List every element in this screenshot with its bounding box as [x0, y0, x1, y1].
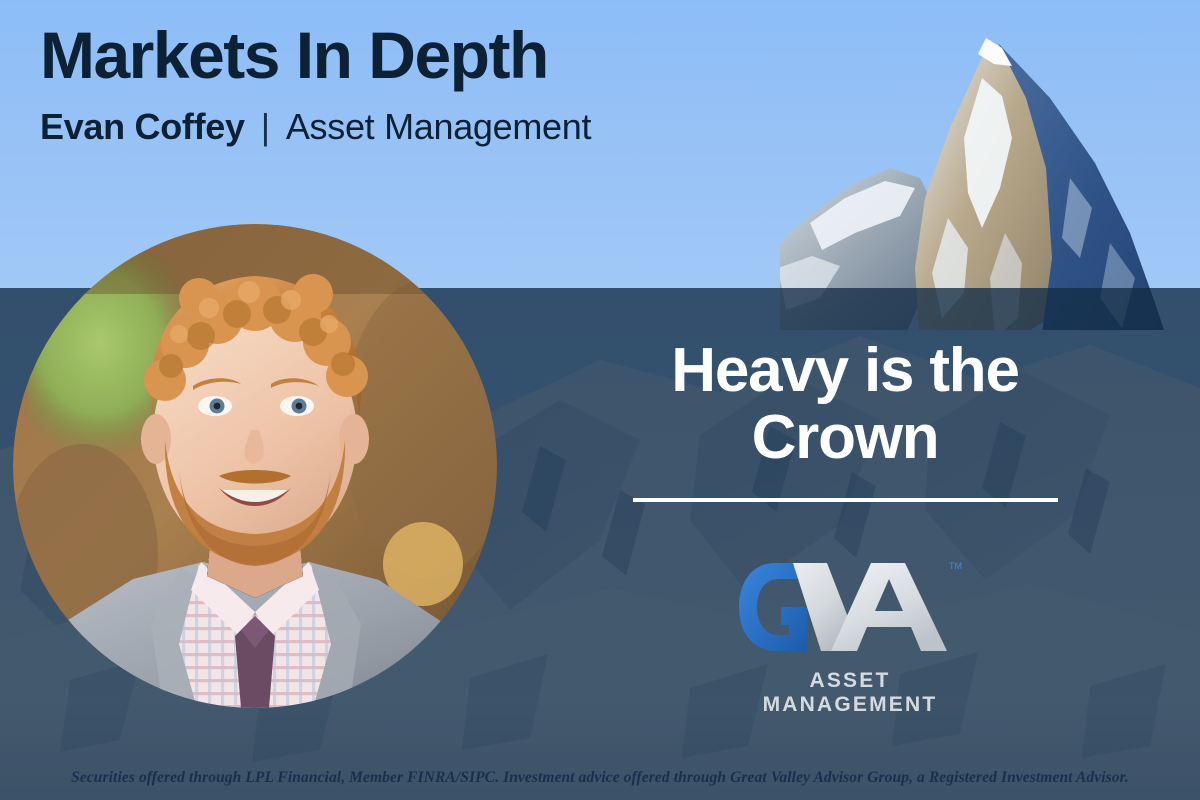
byline-separator: | [245, 106, 286, 148]
avatar [13, 224, 497, 708]
logo-subtitle: ASSET MANAGEMENT [735, 669, 965, 717]
header: Markets In Depth Evan Coffey | Asset Man… [40, 22, 800, 148]
article-headline-block: Heavy is the Crown [620, 338, 1070, 502]
author-name: Evan Coffey [40, 106, 245, 148]
headline-divider [633, 498, 1058, 502]
headline-line-2: Crown [752, 403, 939, 472]
gva-logo: TM ASSET MANAGEMENT [735, 553, 965, 717]
article-headline: Heavy is the Crown [620, 338, 1070, 472]
page-title: Markets In Depth [40, 22, 800, 88]
department-name: Asset Management [286, 106, 591, 148]
footer: Securities offered through LPL Financial… [0, 769, 1200, 787]
headline-line-1: Heavy is the [671, 336, 1018, 405]
disclosure-text: Securities offered through LPL Financial… [71, 769, 1129, 786]
byline: Evan Coffey | Asset Management [40, 106, 800, 148]
markets-in-depth-banner: Markets In Depth Evan Coffey | Asset Man… [0, 0, 1200, 800]
gva-logo-mark: TM [735, 553, 965, 661]
trademark-symbol: TM [949, 561, 962, 571]
